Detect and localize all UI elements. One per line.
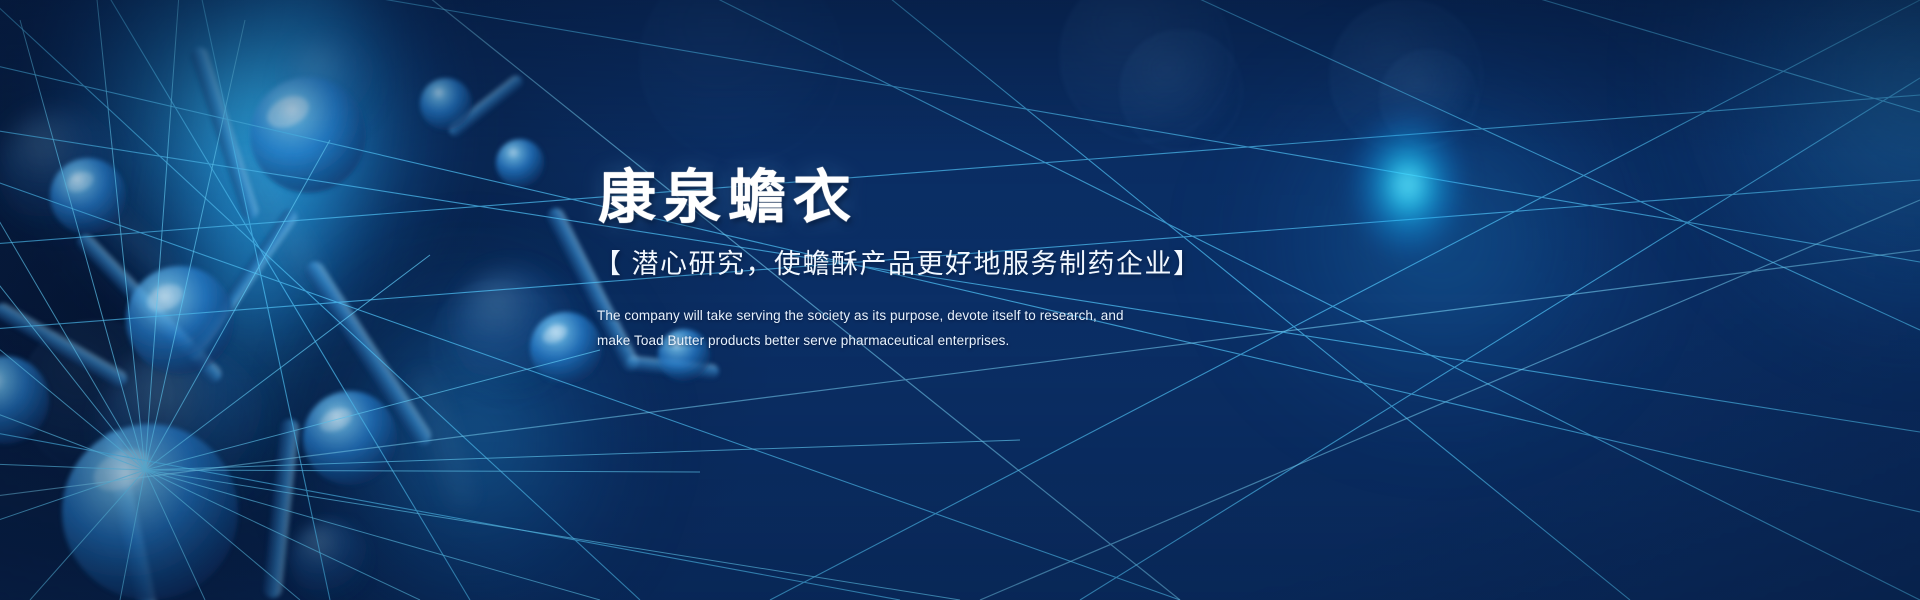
hero-subtitle: 【 潜心研究，使蟾酥产品更好地服务制药企业】 — [594, 242, 1214, 281]
hero-title: 康泉蟾衣 — [598, 168, 1214, 228]
hero-description: The company will take serving the societ… — [597, 303, 1214, 353]
hero-banner: 康泉蟾衣 【 潜心研究，使蟾酥产品更好地服务制药企业】 The company … — [0, 0, 1920, 600]
hero-description-line-1: The company will take serving the societ… — [597, 303, 1214, 328]
hero-text-block: 康泉蟾衣 【 潜心研究，使蟾酥产品更好地服务制药企业】 The company … — [594, 168, 1214, 353]
hero-description-line-2: make Toad Butter products better serve p… — [597, 328, 1214, 353]
